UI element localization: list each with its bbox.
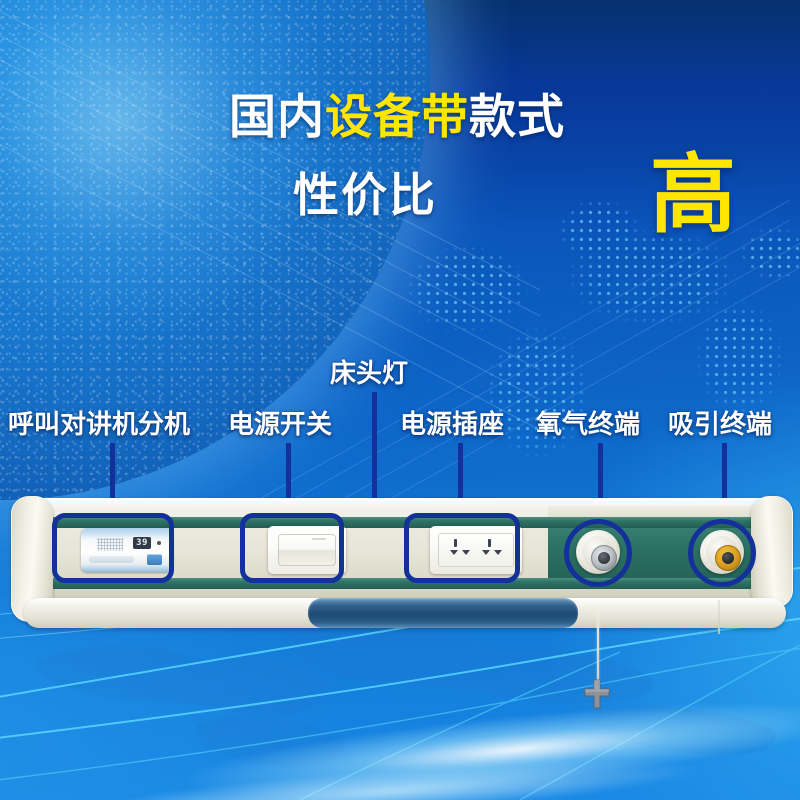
callout-label-power-switch: 电源开关 (228, 409, 332, 439)
poster-canvas: 国内设备带款式 性价比 高 呼叫对讲机分机 电源开关 床头灯 电源插座 氧气终端… (0, 0, 800, 800)
highlight-box-power-socket (404, 513, 520, 583)
pull-cord-secondary[interactable] (718, 600, 720, 634)
headline-part-value-for-money: 性价比 (293, 169, 437, 221)
callout-label-oxygen-terminal: 氧气终端 (536, 409, 640, 439)
headline-part-style: 款式 (469, 90, 565, 143)
highlight-box-power-switch (240, 513, 344, 583)
headline-line-1: 国内设备带款式 (0, 88, 800, 146)
callout-label-power-socket: 电源插座 (400, 409, 504, 439)
highlight-box-nurse-call (52, 513, 174, 583)
bed-lamp-diffuser (308, 598, 578, 628)
callout-label-bed-lamp: 床头灯 (330, 358, 408, 388)
headline-highlight-high: 高 (650, 150, 736, 240)
pull-cord-tip-icon (580, 678, 614, 712)
highlight-circle-oxygen-terminal (564, 519, 632, 587)
callout-label-nurse-call: 呼叫对讲机分机 (8, 409, 190, 439)
headline-part-equipment-belt: 设备带 (325, 90, 469, 143)
panel-end-cap-right (751, 496, 793, 608)
headline-part-domestic: 国内 (229, 90, 325, 143)
callout-label-suction-terminal: 吸引终端 (668, 409, 772, 439)
highlight-circle-suction-terminal (688, 519, 756, 587)
